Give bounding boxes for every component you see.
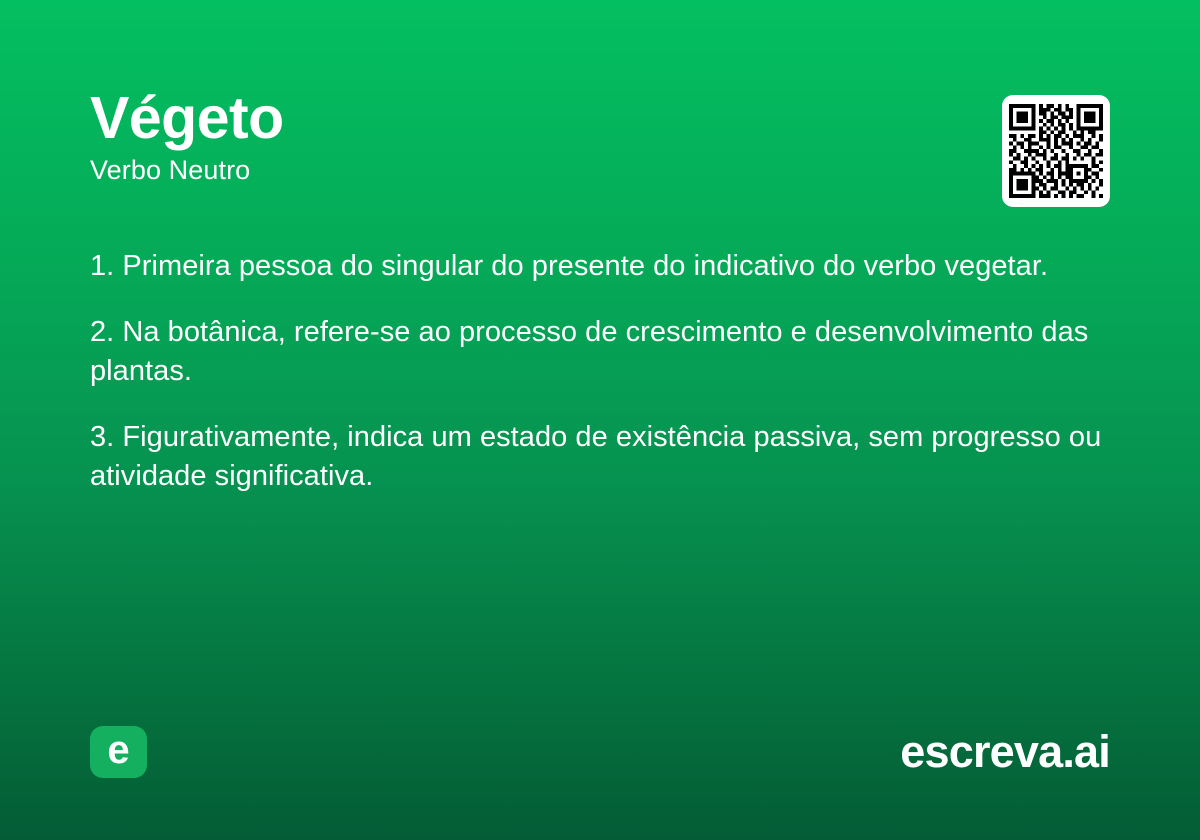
definitions-list: 1. Primeira pessoa do singular do presen…	[90, 247, 1110, 496]
brand-wordmark: escreva.ai	[900, 726, 1110, 778]
logo-letter-e-icon: e	[107, 730, 129, 770]
card-header: Végeto Verbo Neutro	[90, 88, 970, 186]
page-title: Végeto	[90, 88, 970, 149]
logo: e	[90, 726, 147, 778]
definition-item: 3. Figurativamente, indica um estado de …	[90, 418, 1110, 496]
qr-code[interactable]	[1002, 95, 1110, 207]
word-definition-card: Végeto Verbo Neutro	[0, 0, 1200, 840]
qr-code-icon	[1009, 103, 1103, 199]
definition-item: 2. Na botânica, refere-se ao processo de…	[90, 313, 1110, 391]
word-class-label: Verbo Neutro	[90, 155, 970, 186]
definition-item: 1. Primeira pessoa do singular do presen…	[90, 247, 1110, 286]
